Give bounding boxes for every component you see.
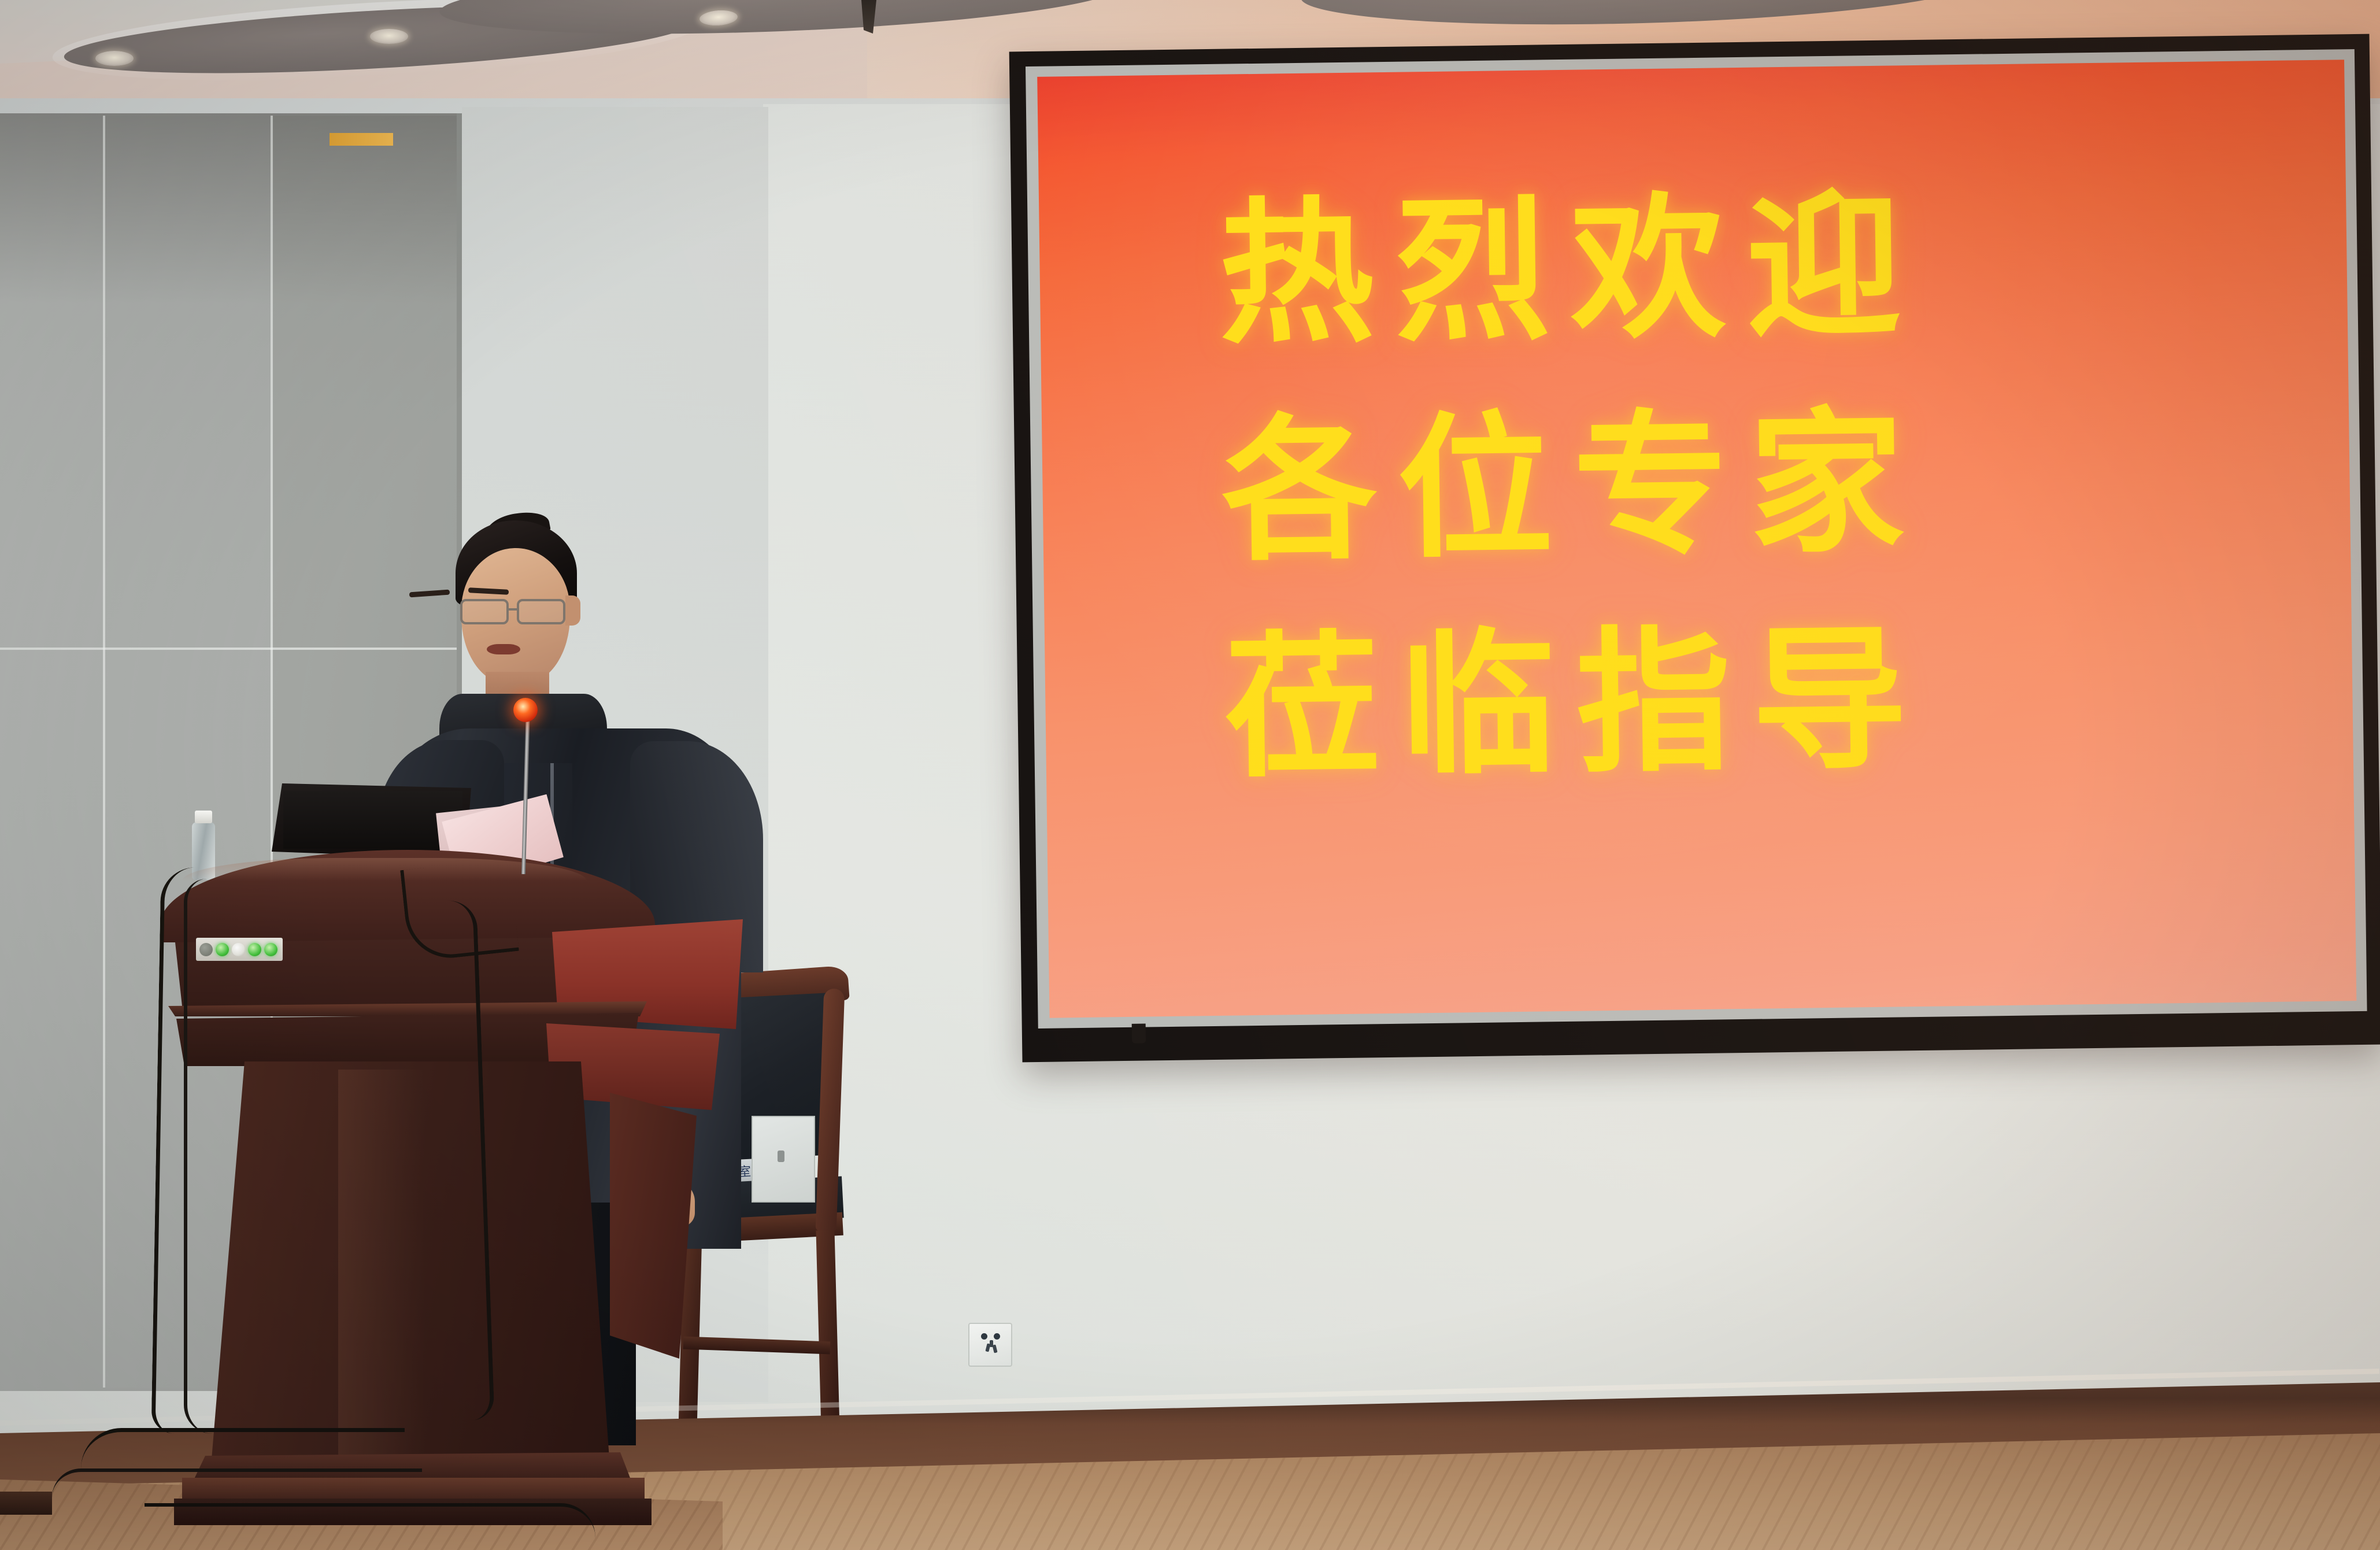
panel-sticker [330, 133, 393, 146]
floor-cable [145, 1503, 595, 1549]
eyebrow-left [409, 590, 450, 598]
panel-seam [103, 116, 105, 1388]
socket-pin [994, 1333, 1000, 1340]
bottle-cap [195, 811, 212, 823]
floor-cable [338, 900, 494, 1425]
led-indicator-5 [264, 943, 277, 956]
slide-line-3: 莅临指导 [1223, 587, 2273, 817]
downlight-icon [370, 29, 408, 44]
laptop-screen [283, 791, 462, 849]
projection-screen[interactable]: 热烈欢迎 各位专家 莅临指导 [1009, 34, 2380, 1063]
slide-line-1: 热烈欢迎 [1217, 153, 2267, 384]
slide-text-block: 热烈欢迎 各位专家 莅临指导 [1217, 153, 2273, 817]
glasses-icon [457, 599, 578, 626]
glasses-lens-right [517, 599, 565, 624]
wall-plate-hole [778, 1151, 784, 1162]
floor-trim-block [0, 1492, 52, 1515]
led-indicator-4 [248, 943, 261, 956]
glasses-lens-left [460, 599, 509, 624]
panel-seam [0, 648, 457, 650]
floor-cable [184, 879, 224, 1434]
socket-pin [981, 1333, 987, 1340]
downlight-icon [95, 51, 134, 66]
mouth [487, 644, 520, 654]
chair-leg [816, 1230, 839, 1431]
led-indicator-3 [232, 943, 245, 956]
screen-hook-icon [1132, 1024, 1146, 1044]
slide-line-2: 各位专家 [1220, 370, 2270, 601]
conference-hall-photo: 热烈欢迎 各位专家 莅临指导 会议室专用 [0, 0, 2380, 1550]
microphone-indicator-icon [513, 698, 538, 722]
screen-surface: 热烈欢迎 各位专家 莅临指导 [1037, 60, 2356, 1018]
glasses-bridge [509, 608, 518, 611]
